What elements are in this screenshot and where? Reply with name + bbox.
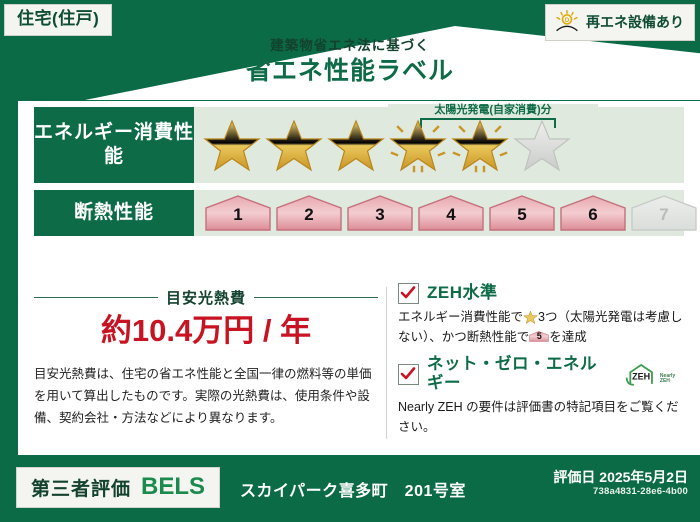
utility-cost-heading-label: 目安光熱費: [166, 287, 246, 308]
evaluation-date: 評価日 2025年5月2日: [553, 469, 688, 486]
renewable-energy-tag: D 再エネ設備あり: [545, 4, 695, 41]
zeh-standard-star-count: 3つ（太陽光発電: [538, 310, 632, 324]
insulation-performance-body: 1 2 3: [194, 190, 698, 236]
star-filled-2: [264, 116, 324, 174]
zeh-standard-text: エネルギー消費性能で3つ（太陽光発電は考慮しない）、かつ断熱性能で5を達成: [398, 307, 684, 348]
star-filled-1: [202, 116, 262, 174]
energy-performance-title: エネルギー消費性能: [34, 107, 194, 183]
insulation-badge-5: 5: [488, 194, 556, 232]
inline-star-icon: [523, 310, 538, 325]
sun-renewable-icon: D: [554, 9, 580, 35]
lower-section: 目安光熱費 約10.4万円 / 年 目安光熱費は、住宅の省エネ性能と全国一律の燃…: [34, 283, 684, 451]
zeh-netzero-title: ネット・ゼロ・エネルギー: [427, 355, 612, 395]
bels-jp-label: 第三者評価: [31, 474, 131, 501]
heading-rule-right: [254, 297, 378, 298]
insulation-badge-label: 1: [204, 206, 272, 223]
energy-performance-body: 太陽光発電(自家消費)分: [194, 107, 684, 183]
zeh-standard-text-3: を達成: [549, 330, 587, 344]
zeh-standard-block: ZEH水準 エネルギー消費性能で3つ（太陽光発電は考慮しない）、かつ断熱性能で5…: [398, 283, 684, 348]
rating-rows: エネルギー消費性能 太陽光発電(自家消費)分: [34, 107, 684, 243]
title-block: 建築物省エネ法に基づく 省エネ性能ラベル: [0, 38, 700, 87]
insulation-performance-title: 断熱性能: [34, 190, 194, 236]
inline-insulation-badge-label: 5: [529, 332, 549, 341]
star-rating: [194, 116, 572, 174]
insulation-level-badges: 1 2 3: [194, 194, 698, 232]
bels-energy-label: 住宅(住戸) D 再エネ設備あり 建築物: [0, 0, 700, 522]
svg-text:ZEH: ZEH: [632, 372, 650, 382]
utility-cost-heading: 目安光熱費: [34, 287, 378, 308]
insulation-badge-4: 4: [417, 194, 485, 232]
insulation-badge-label: 3: [346, 206, 414, 223]
utility-cost-note: 目安光熱費は、住宅の省エネ性能と全国一律の燃料等の単価を用いて算出したものです。…: [34, 364, 378, 430]
insulation-badge-6: 6: [559, 194, 627, 232]
insulation-badge-label: 7: [630, 206, 698, 223]
insulation-badge-label: 2: [275, 206, 343, 223]
star-empty-6: [512, 116, 572, 174]
zeh-section: ZEH水準 エネルギー消費性能で3つ（太陽光発電は考慮しない）、かつ断熱性能で5…: [378, 283, 684, 451]
star-filled-solar-4: [388, 116, 448, 174]
zeh-netzero-text: Nearly ZEH の要件は評価書の特記項目をご覧ください。: [398, 397, 684, 438]
insulation-badge-label: 6: [559, 206, 627, 223]
bels-en-label: BELS: [141, 473, 205, 501]
energy-performance-row: エネルギー消費性能 太陽光発電(自家消費)分: [34, 107, 684, 183]
evaluation-info: 評価日 2025年5月2日 738a4831-28e6-4b00: [553, 469, 688, 498]
insulation-badge-1: 1: [204, 194, 272, 232]
checkbox-checked-icon[interactable]: [398, 364, 419, 385]
renewable-energy-tag-label: 再エネ設備あり: [586, 12, 684, 32]
zeh-standard-text-1: エネルギー消費性能で: [398, 310, 523, 324]
insulation-badge-3: 3: [346, 194, 414, 232]
insulation-badge-label: 5: [488, 206, 556, 223]
title-main: 省エネ性能ラベル: [0, 56, 700, 87]
zeh-logo-sublabel: Nearly ZEH: [660, 374, 684, 388]
evaluation-id: 738a4831-28e6-4b00: [553, 486, 688, 498]
title-subtitle: 建築物省エネ法に基づく: [0, 38, 700, 54]
label-footer: 第三者評価 BELS スカイパーク喜多町 201号室 評価日 2025年5月2日…: [0, 455, 700, 522]
property-address: スカイパーク喜多町 201号室: [240, 477, 466, 501]
utility-cost-section: 目安光熱費 約10.4万円 / 年 目安光熱費は、住宅の省エネ性能と全国一律の燃…: [34, 283, 378, 451]
utility-cost-value: 約10.4万円 / 年: [34, 314, 378, 348]
svg-text:D: D: [565, 18, 570, 24]
inline-insulation-badge-icon: 5: [529, 329, 549, 344]
insulation-badge-7: 7: [630, 194, 698, 232]
label-header: 住宅(住戸) D 再エネ設備あり 建築物: [0, 0, 700, 100]
zeh-standard-title: ZEH水準: [427, 283, 498, 303]
star-filled-solar-5: [450, 116, 510, 174]
star-filled-3: [326, 116, 386, 174]
checkbox-checked-icon[interactable]: [398, 283, 419, 304]
label-body-card: エネルギー消費性能 太陽光発電(自家消費)分: [18, 101, 700, 455]
insulation-badge-label: 4: [417, 206, 485, 223]
zeh-netzero-block: ネット・ゼロ・エネルギー ZEH Nearly ZEH Nearly ZEH の…: [398, 355, 684, 438]
zeh-standard-header: ZEH水準: [398, 283, 684, 304]
zeh-house-logo-icon: ZEH Nearly ZEH: [624, 361, 684, 387]
zeh-netzero-header: ネット・ゼロ・エネルギー ZEH Nearly ZEH: [398, 355, 684, 395]
insulation-performance-row: 断熱性能 1: [34, 190, 684, 236]
bels-certification-box: 第三者評価 BELS: [16, 467, 220, 508]
heading-rule-left: [34, 297, 158, 298]
insulation-badge-2: 2: [275, 194, 343, 232]
housing-type-tag: 住宅(住戸): [4, 4, 112, 36]
